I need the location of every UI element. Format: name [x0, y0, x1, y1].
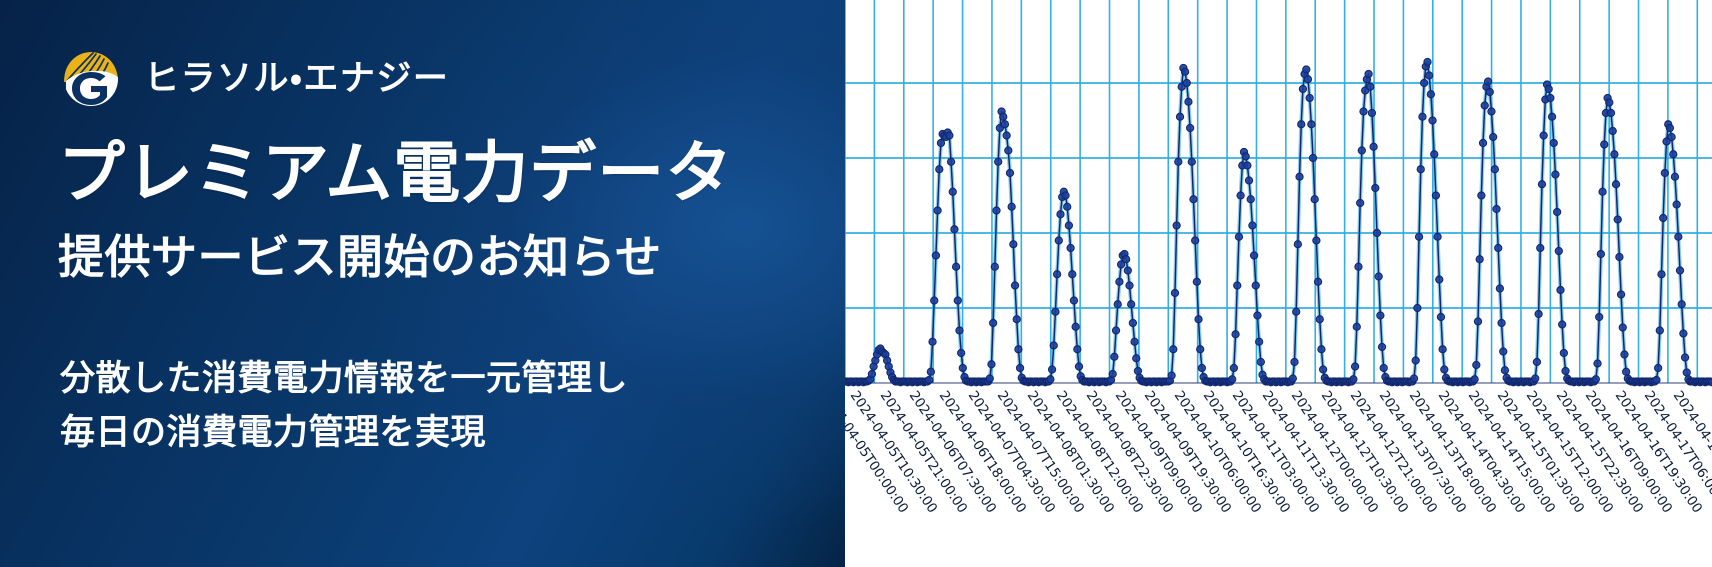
brand-name: ヒラソル・エナジー: [144, 62, 449, 97]
power-consumption-chart: 2024-04-05T00:00:002024-04-05T10:30:0020…: [845, 0, 1712, 567]
chart-plot-area: [845, 0, 1712, 388]
page-subtitle: 提供サービス開始のお知らせ: [58, 232, 662, 283]
chart-x-axis: 2024-04-05T00:00:002024-04-05T10:30:0020…: [845, 388, 1712, 567]
left-hero-panel: ヒラソル・エナジー プレミアム電力データ 提供サービス開始のお知らせ 分散した消…: [0, 0, 845, 567]
sun-g-logo-icon: [60, 48, 122, 110]
page-title: プレミアム電力データ: [58, 139, 733, 209]
body-copy-line-2: 毎日の消費電力管理を実現: [60, 406, 628, 460]
promo-banner: ヒラソル・エナジー プレミアム電力データ 提供サービス開始のお知らせ 分散した消…: [0, 0, 1712, 567]
body-copy-line-1: 分散した消費電力情報を一元管理し: [60, 352, 628, 406]
brand-lockup: ヒラソル・エナジー: [60, 48, 449, 110]
body-copy: 分散した消費電力情報を一元管理し 毎日の消費電力管理を実現: [60, 352, 628, 461]
